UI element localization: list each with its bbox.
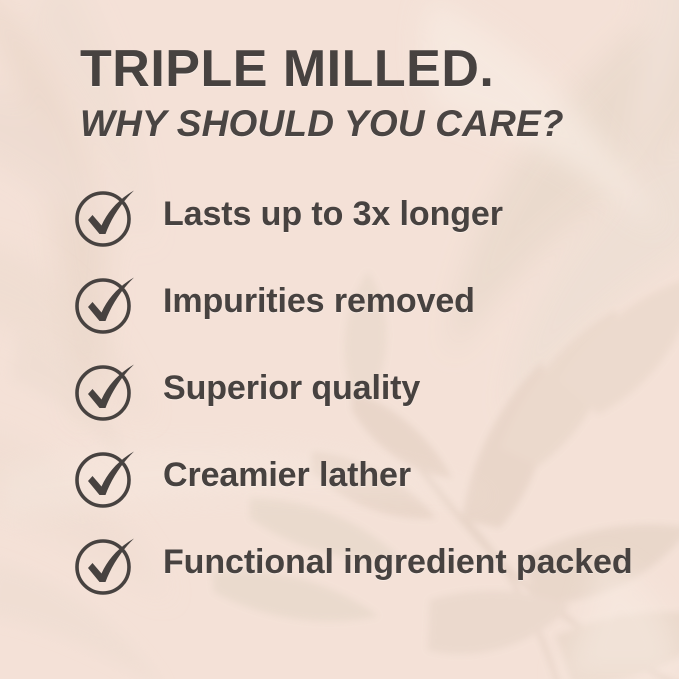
list-item-label: Impurities removed xyxy=(140,273,644,322)
circle-check-icon xyxy=(74,274,140,336)
poster-content: TRIPLE MILLED. WHY SHOULD YOU CARE? Last… xyxy=(0,0,679,679)
circle-check-icon xyxy=(74,361,140,423)
list-item-label: Superior quality xyxy=(140,360,644,409)
heading-block: TRIPLE MILLED. WHY SHOULD YOU CARE? xyxy=(80,41,640,146)
circle-check-icon xyxy=(74,448,140,510)
circle-check-icon xyxy=(74,535,140,597)
list-item: Lasts up to 3x longer xyxy=(74,186,644,249)
page-title: TRIPLE MILLED. xyxy=(80,41,640,97)
benefits-list: Lasts up to 3x longer Impurities removed… xyxy=(74,186,644,597)
triple-milled-benefits-poster: TRIPLE MILLED. WHY SHOULD YOU CARE? Last… xyxy=(0,0,679,679)
circle-check-icon xyxy=(74,187,140,249)
list-item: Impurities removed xyxy=(74,273,644,336)
list-item: Superior quality xyxy=(74,360,644,423)
list-item-label: Creamier lather xyxy=(140,447,644,496)
list-item-label: Lasts up to 3x longer xyxy=(140,186,644,235)
page-subtitle: WHY SHOULD YOU CARE? xyxy=(80,97,640,146)
list-item-label: Functional ingredient packed xyxy=(140,534,644,583)
list-item: Functional ingredient packed xyxy=(74,534,644,597)
list-item: Creamier lather xyxy=(74,447,644,510)
